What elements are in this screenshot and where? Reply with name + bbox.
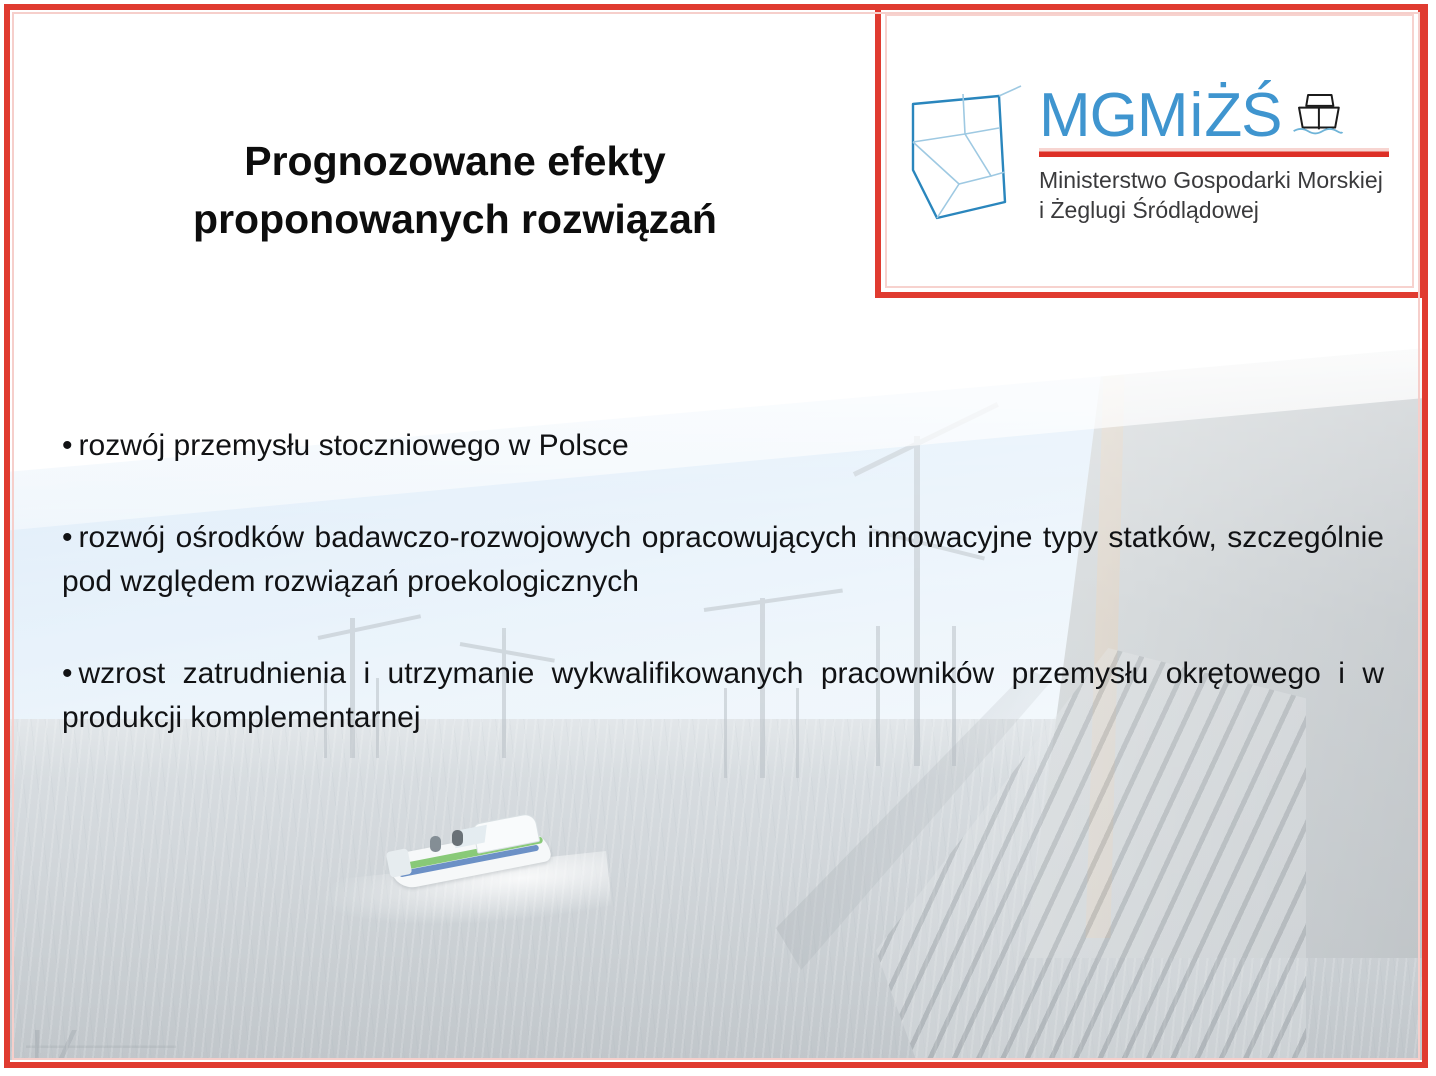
slide: Prognozowane efekty proponowanych rozwią… [0,0,1436,1076]
bullet-list: •rozwój przemysłu stoczniowego w Polsce … [62,424,1384,740]
logo-text-block: MGMiŻŚ [1039,84,1409,226]
bullet-marker: • [62,521,73,554]
bullet-item-2: •rozwój ośrodków badawczo-rozwojowych op… [62,516,1384,604]
page-title: Prognozowane efekty proponowanych rozwią… [60,132,850,248]
ministry-logo-box: MGMiŻŚ [875,4,1424,298]
bullet-marker: • [62,429,73,462]
logo-ministry-line-2: i Żeglugi Śródlądowej [1039,195,1409,226]
bullet-item-3: •wzrost zatrudnienia i utrzymanie wykwal… [62,652,1384,740]
logo-ministry-line-1: Ministerstwo Gospodarki Morskiej [1039,165,1409,196]
page-title-line-2: proponowanych rozwiązań [60,190,850,248]
mgmizs-geometric-mark-icon [903,84,1025,224]
bullet-text: rozwój przemysłu stoczniowego w Polsce [79,429,629,462]
logo-content: MGMiŻŚ [903,84,1409,232]
logo-acronym-i: i [1190,86,1203,146]
page-title-line-1: Prognozowane efekty [60,132,850,190]
logo-acronym-row: MGMiŻŚ [1039,86,1409,146]
bullet-text: wzrost zatrudnienia i utrzymanie wykwali… [62,657,1384,734]
faint-watermark [26,1030,176,1060]
bullet-text: rozwój ośrodków badawczo-rozwojowych opr… [62,521,1384,598]
ship-bow-icon [1290,89,1346,144]
logo-acronym-main: MGM [1039,86,1188,146]
bullet-marker: • [62,657,73,690]
logo-acronym-tail: ŻŚ [1204,86,1281,146]
bullet-item-1: •rozwój przemysłu stoczniowego w Polsce [62,424,1384,468]
